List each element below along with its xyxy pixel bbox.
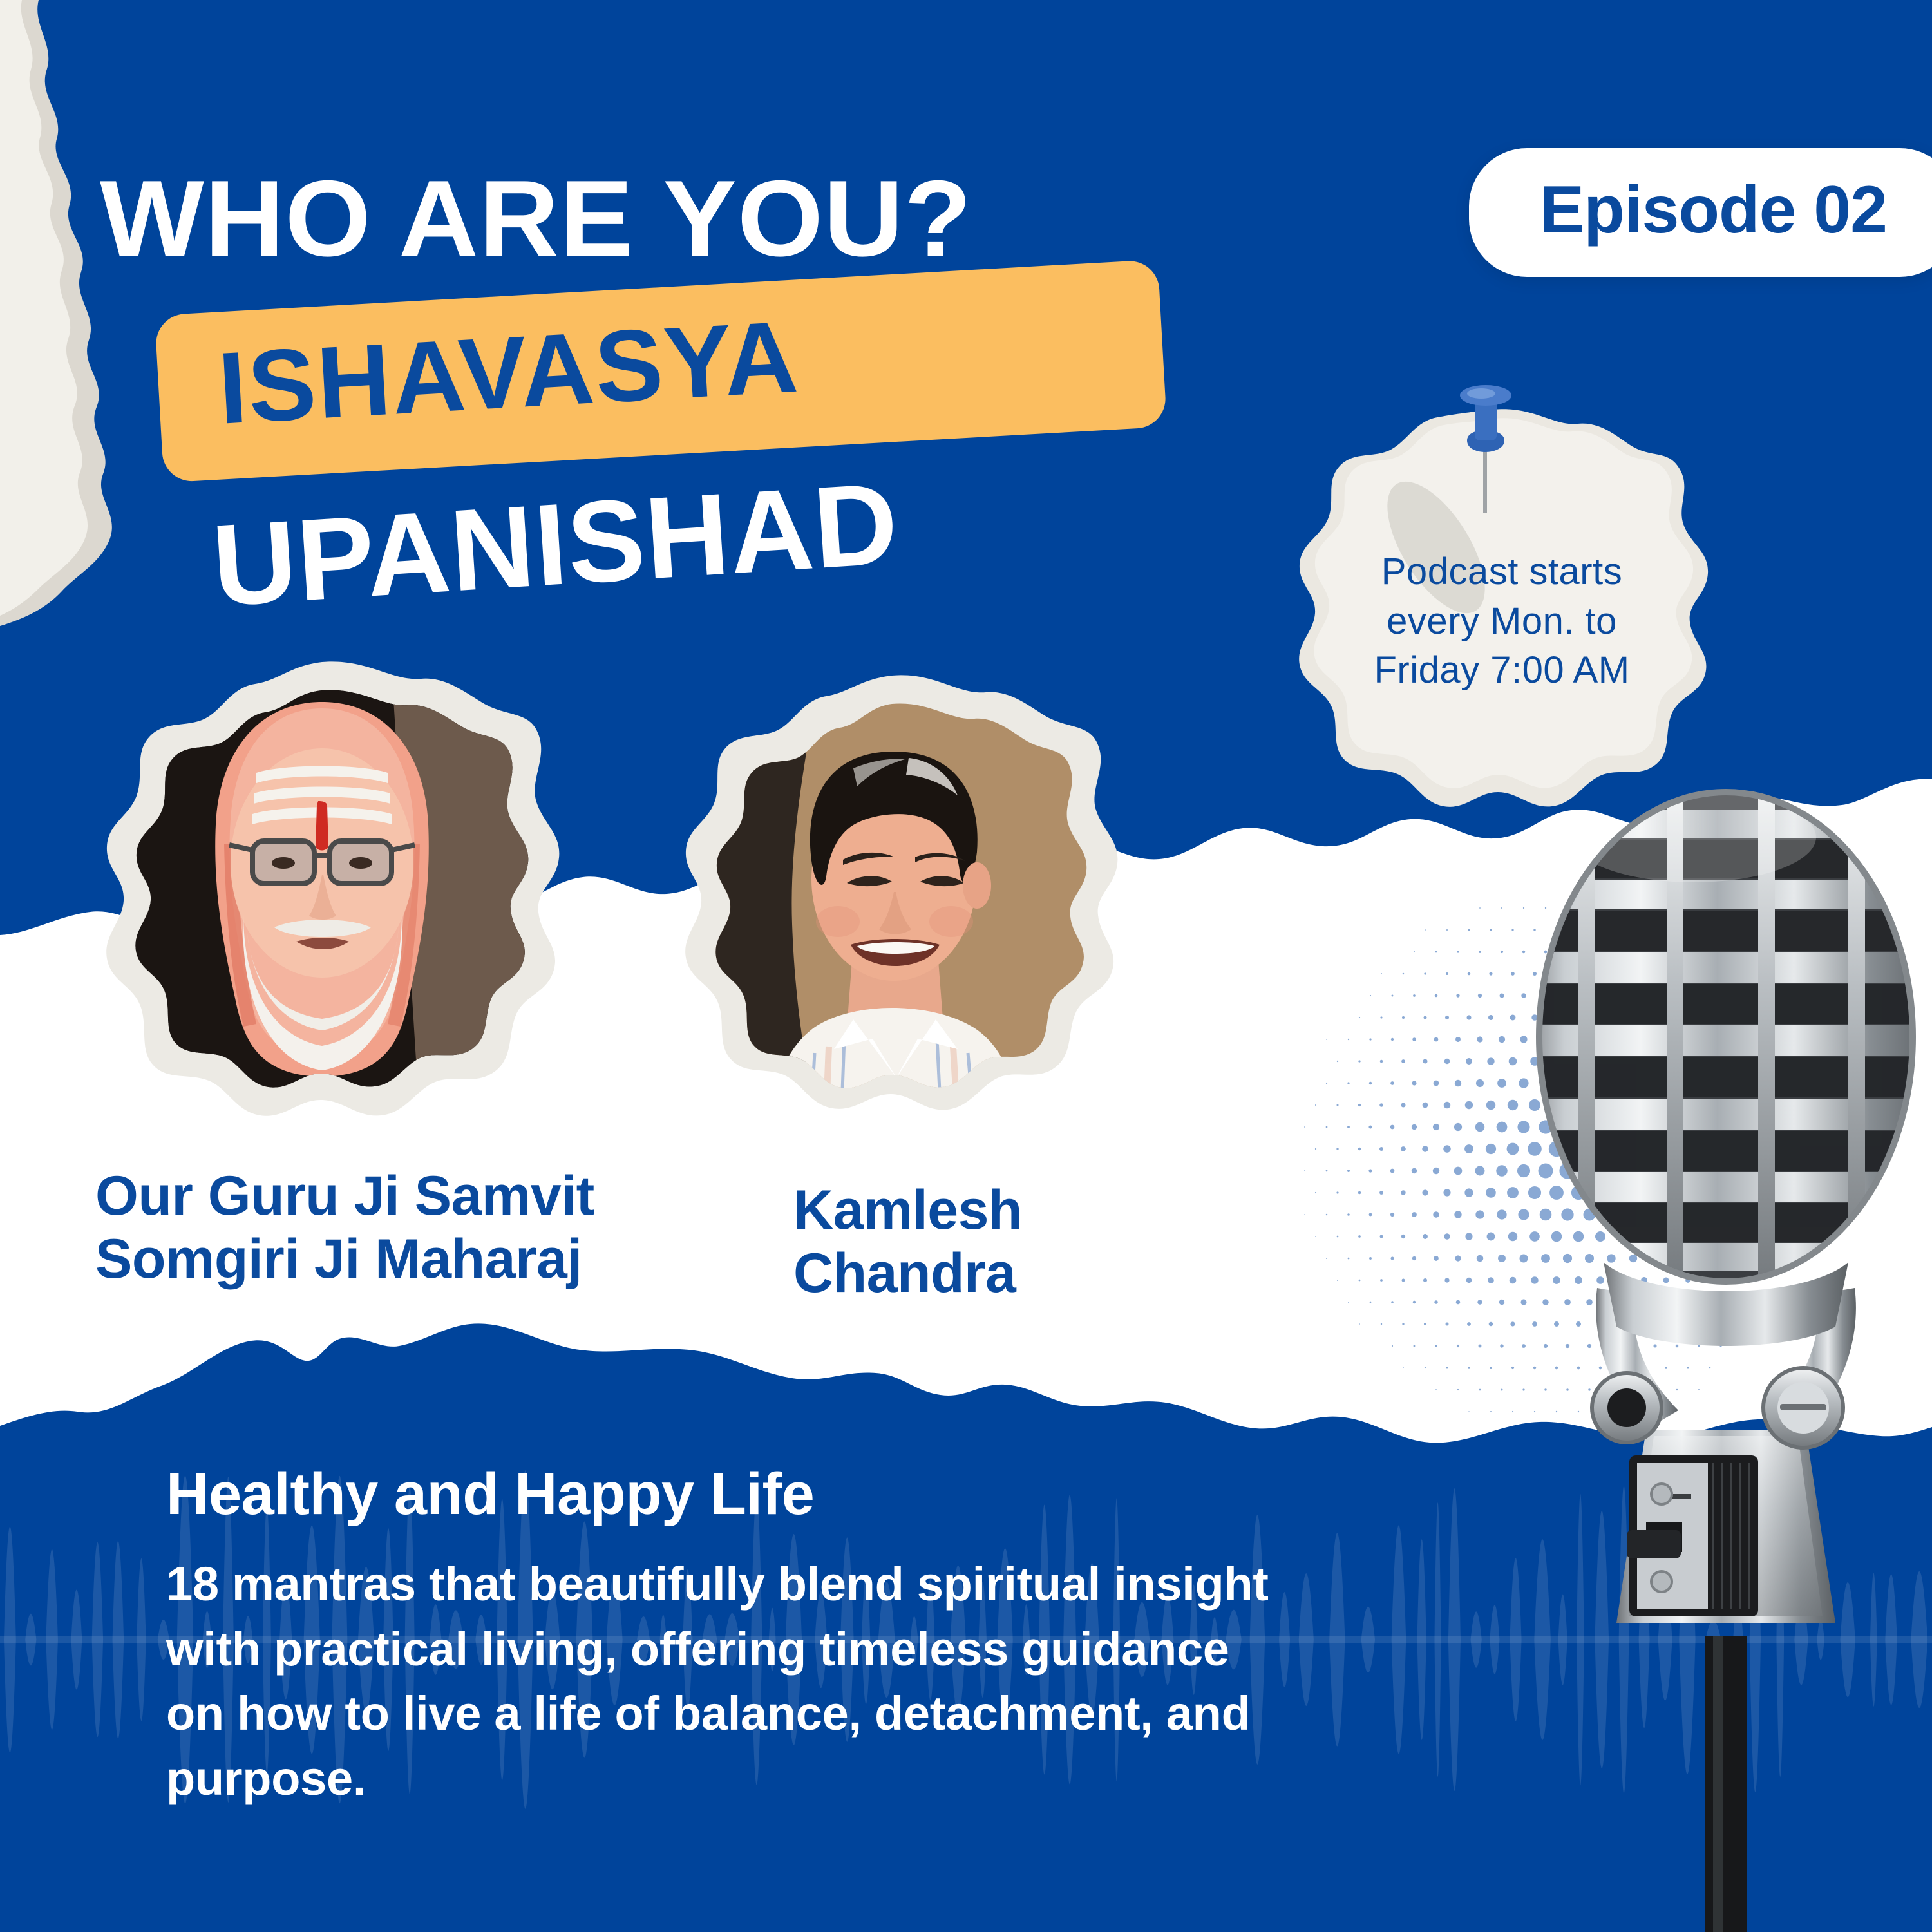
episode-label: Episode 02 xyxy=(1540,176,1887,243)
speaker-name-guru-line-1: Our Guru Ji Samvit xyxy=(95,1164,594,1227)
schedule-note-line-2: every Mon. to xyxy=(1334,597,1669,647)
footer-body-line-3: on how to live a life of balance, detach… xyxy=(166,1681,1448,1747)
vintage-microphone-icon xyxy=(1501,760,1932,1932)
schedule-note-text: Podcast starts every Mon. to Friday 7:00… xyxy=(1334,547,1669,696)
footer-body-line-2: with practical living, offering timeless… xyxy=(166,1617,1448,1682)
speaker-name-kamlesh-line-1: Kamlesh xyxy=(793,1179,1022,1242)
speaker-name-guru-line-2: Somgiri Ji Maharaj xyxy=(95,1227,594,1291)
speaker-portrait-guru xyxy=(84,650,560,1153)
schedule-note-line-3: Friday 7:00 AM xyxy=(1334,646,1669,696)
podcast-poster: WHO ARE YOU? ISHAVASYA UPANISHAD Episode… xyxy=(0,0,1932,1932)
speaker-name-kamlesh-line-2: Chandra xyxy=(793,1242,1022,1305)
footer-body-line-4: purpose. xyxy=(166,1747,1448,1812)
page-title: WHO ARE YOU? xyxy=(100,164,972,272)
speaker-name-guru: Our Guru Ji Samvit Somgiri Ji Maharaj xyxy=(95,1164,594,1291)
pushpin-icon xyxy=(1444,376,1528,537)
episode-badge[interactable]: Episode 02 xyxy=(1469,148,1932,277)
footer-title: Healthy and Happy Life xyxy=(166,1461,814,1528)
footer-body-line-1: 18 mantras that beautifully blend spirit… xyxy=(166,1552,1448,1617)
speaker-name-kamlesh: Kamlesh Chandra xyxy=(793,1179,1022,1305)
schedule-note-line-1: Podcast starts xyxy=(1334,547,1669,597)
footer-body: 18 mantras that beautifully blend spirit… xyxy=(166,1552,1448,1812)
speaker-portrait-kamlesh xyxy=(660,667,1124,1143)
